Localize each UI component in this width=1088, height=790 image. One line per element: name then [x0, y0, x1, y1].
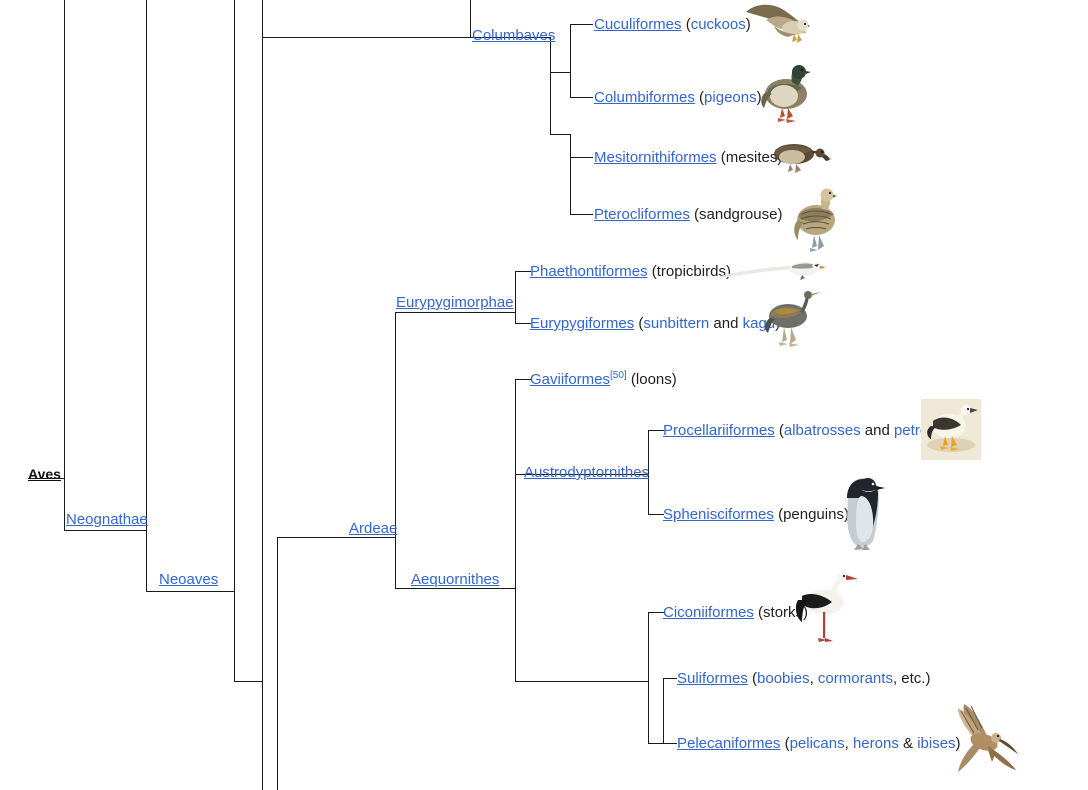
branch-neognathae-vertical: [146, 0, 147, 530]
bird-image-ibis: [944, 700, 1024, 784]
branch-neoaves-vertical: [234, 0, 235, 591]
branch-neognathae-to-neoaves: [146, 530, 147, 591]
link-pelicans[interactable]: pelicans: [790, 735, 845, 752]
link-ciconiiformes[interactable]: Ciconiiformes: [663, 604, 754, 621]
branch-columbaves-lower-connector: [550, 134, 571, 135]
clade-label-austrodyptornithes[interactable]: Austrodyptornithes: [524, 465, 649, 481]
branch-aves-to-neognathae: [64, 478, 65, 530]
taxon-label-mesitornithiformes: Mesitornithiformes (mesites): [594, 149, 782, 166]
bird-image-mesite: [770, 140, 836, 176]
taxon-label-pelecaniformes: Pelecaniformes (pelicans, herons & ibise…: [677, 735, 961, 752]
text-sandgrouse: sandgrouse: [699, 206, 777, 223]
comma-2: ,: [845, 735, 853, 752]
link-suliformes[interactable]: Suliformes: [677, 670, 748, 687]
link-procellariiformes[interactable]: Procellariiformes: [663, 422, 775, 439]
branch-sphenisciformes: [648, 514, 664, 515]
clade-label-aves[interactable]: Aves: [28, 466, 61, 482]
branch-ardeae-stem: [277, 537, 395, 538]
bird-image-tropicbird: [718, 258, 828, 286]
reference-marker-50[interactable]: [50]: [610, 370, 627, 381]
text-tropicbirds: tropicbirds: [657, 263, 726, 280]
clade-label-ardeae[interactable]: Ardeae: [349, 521, 397, 537]
branch-columbaves-lower-drop: [570, 134, 571, 157]
branch-pelecaniformes: [663, 743, 677, 744]
cladogram-canvas: Aves Neognathae Neoaves Columbaves Ardea…: [0, 0, 1088, 790]
link-mesitornithiformes[interactable]: Mesitornithiformes: [594, 149, 717, 166]
branch-ciconiidae-vertical: [648, 612, 649, 743]
branch-columbaves-upper-drop: [570, 72, 571, 98]
paren-close: ): [672, 371, 677, 388]
branch-neoaves-lower-descend: [262, 681, 263, 790]
bird-image-cuckoo: [744, 0, 810, 50]
text-and: and: [713, 315, 738, 332]
branch-columbaves-stemtop: [470, 0, 471, 37]
branch-pterocliformes: [570, 214, 593, 215]
branch-neognathae-horizontal: [64, 530, 147, 531]
branch-eurypygimorphae-stem: [395, 312, 515, 313]
taxon-label-ciconiiformes: Ciconiiformes (storks): [663, 604, 808, 621]
link-cormorants[interactable]: cormorants: [818, 670, 893, 687]
branch-mesito-ptero-vertical: [570, 157, 571, 215]
branch-neoaves-horizontal: [146, 591, 235, 592]
branch-eurypygiformes: [515, 323, 531, 324]
bird-image-sunbittern: [762, 290, 824, 352]
clade-label-columbaves[interactable]: Columbaves: [472, 28, 555, 44]
link-albatrosses[interactable]: albatrosses: [784, 422, 861, 439]
etc-close: , etc.): [893, 670, 931, 687]
bird-image-albatross: [921, 399, 981, 460]
branch-aves-vertical: [64, 0, 65, 478]
clade-label-eurypygimorphae[interactable]: Eurypygimorphae: [396, 295, 514, 311]
text-and: and: [865, 422, 890, 439]
branch-neoaves-lower-horizontal: [234, 681, 263, 682]
clade-label-neoaves[interactable]: Neoaves: [159, 572, 218, 588]
link-boobies[interactable]: boobies: [757, 670, 810, 687]
branch-cuculiformes: [570, 24, 593, 25]
link-sunbittern[interactable]: sunbittern: [643, 315, 709, 332]
text-loons: loons: [636, 371, 672, 388]
link-herons[interactable]: herons: [853, 735, 899, 752]
link-columbiformes[interactable]: Columbiformes: [594, 89, 695, 106]
taxon-label-eurypygiformes: Eurypygiformes (sunbittern and kagu): [530, 315, 780, 332]
comma-1: ,: [810, 670, 818, 687]
branch-suli-pelec-connector: [648, 743, 664, 744]
link-cuckoos[interactable]: cuckoos: [691, 16, 746, 33]
taxon-label-gaviiformes: Gaviiformes[50] (loons): [530, 371, 677, 388]
branch-neoaves-descend: [234, 591, 235, 681]
taxon-label-suliformes: Suliformes (boobies, cormorants, etc.): [677, 670, 930, 687]
branch-columbaves-upper-connector: [550, 72, 571, 73]
branch-suliformes: [663, 678, 677, 679]
link-pterocliformes[interactable]: Pterocliformes: [594, 206, 690, 223]
link-sphenisciformes[interactable]: Sphenisciformes: [663, 506, 774, 523]
branch-gaviiformes: [515, 379, 531, 380]
bird-image-sandgrouse: [790, 184, 848, 256]
branch-aequornithes-vertical: [515, 379, 516, 681]
branch-columbiformes: [570, 97, 593, 98]
taxon-label-pterocliformes: Pterocliformes (sandgrouse): [594, 206, 782, 223]
ampersand: &: [903, 735, 913, 752]
link-gaviiformes[interactable]: Gaviiformes: [530, 371, 610, 388]
branch-procellariiformes: [648, 430, 664, 431]
branch-ciconiiformes: [648, 612, 664, 613]
bird-image-penguin: [834, 474, 888, 554]
branch-inner-vertical-262: [262, 0, 263, 681]
link-phaethontiformes[interactable]: Phaethontiformes: [530, 263, 648, 280]
link-pigeons[interactable]: pigeons: [704, 89, 757, 106]
paren-close: ): [777, 206, 782, 223]
bird-image-stork: [794, 568, 860, 650]
branch-ardeae-parent-vertical: [277, 537, 278, 790]
branch-eurypygimorphae-vertical: [515, 271, 516, 323]
taxon-label-columbiformes: Columbiformes (pigeons): [594, 89, 762, 106]
branch-phaethontiformes: [515, 271, 531, 272]
branch-ciconiidae-group-stem: [515, 681, 648, 682]
taxon-label-procellariiformes: Procellariiformes (albatrosses and petre…: [663, 422, 944, 439]
branch-suli-pelec-vertical: [663, 678, 664, 743]
taxon-label-phaethontiformes: Phaethontiformes (tropicbirds): [530, 263, 731, 280]
clade-label-neognathae[interactable]: Neognathae: [66, 512, 148, 528]
taxon-label-cuculiformes: Cuculiformes (cuckoos): [594, 16, 751, 33]
bird-image-pigeon: [758, 60, 820, 126]
link-pelecaniformes[interactable]: Pelecaniformes: [677, 735, 780, 752]
branch-ardeae-vertical: [395, 312, 396, 589]
link-cuculiformes[interactable]: Cuculiformes: [594, 16, 682, 33]
branch-columbaves-vertical: [550, 37, 551, 134]
clade-label-aequornithes[interactable]: Aequornithes: [411, 572, 499, 588]
branch-mesitornithiformes: [570, 157, 593, 158]
taxon-label-sphenisciformes: Sphenisciformes (penguins): [663, 506, 849, 523]
link-eurypygiformes[interactable]: Eurypygiformes: [530, 315, 634, 332]
branch-aequornithes-stem: [395, 588, 515, 589]
